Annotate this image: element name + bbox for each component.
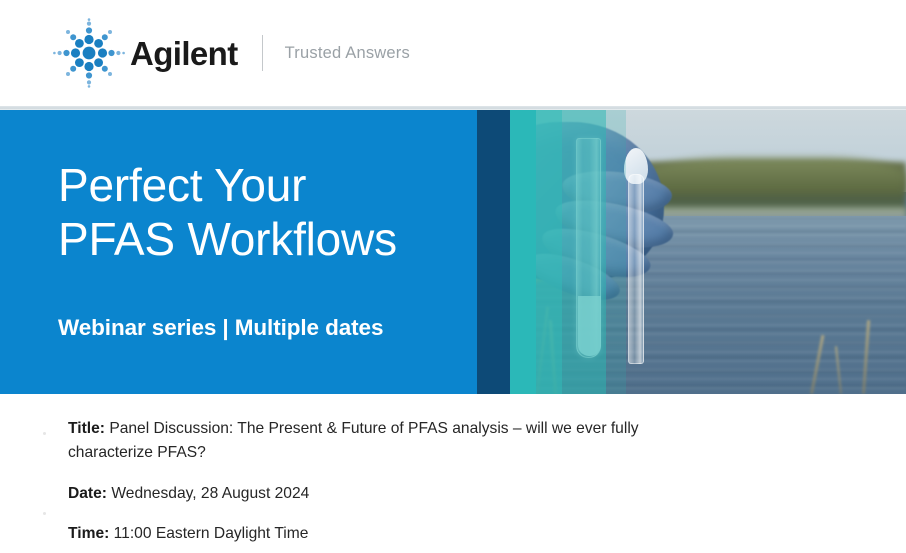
detail-title-row: Title: Panel Discussion: The Present & F… [68, 417, 668, 464]
photo-treeline-highlight [630, 158, 906, 194]
event-details: Title: Panel Discussion: The Present & F… [0, 394, 906, 553]
webinar-invitation-page: Agilent Trusted Answers [0, 0, 906, 553]
hero-text-group: Perfect Your PFAS Workflows Webinar seri… [58, 110, 478, 394]
detail-title-label: Title: [68, 420, 105, 437]
hero-teal-band [536, 110, 562, 394]
brand-wordmark: Agilent [130, 37, 238, 70]
hero-teal-band [510, 110, 536, 394]
page-artifact [43, 512, 46, 515]
detail-date-label: Date: [68, 485, 107, 502]
photo-pipette [628, 174, 644, 364]
detail-date-row: Date: Wednesday, 28 August 2024 [68, 482, 668, 506]
brand-tagline: Trusted Answers [285, 45, 410, 62]
hero-banner: Perfect Your PFAS Workflows Webinar seri… [0, 110, 906, 394]
site-header: Agilent Trusted Answers [0, 0, 906, 107]
hero-title: Perfect Your PFAS Workflows [58, 158, 468, 267]
hero-navy-stripe [477, 110, 510, 394]
agilent-starburst-icon [52, 18, 126, 88]
agilent-logo-lockup[interactable]: Agilent Trusted Answers [52, 22, 410, 84]
hero-subtitle: Webinar series | Multiple dates [58, 315, 383, 341]
logo-divider [262, 35, 263, 71]
hero-teal-band [562, 110, 606, 394]
page-artifact [43, 432, 46, 435]
detail-time-row: Time: 11:00 Eastern Daylight Time [68, 522, 668, 546]
detail-time-label: Time: [68, 525, 109, 542]
detail-time-value: 11:00 Eastern Daylight Time [114, 525, 309, 542]
detail-title-value: Panel Discussion: The Present & Future o… [68, 420, 639, 461]
hero-teal-band [606, 110, 626, 394]
detail-date-value: Wednesday, 28 August 2024 [111, 485, 309, 502]
